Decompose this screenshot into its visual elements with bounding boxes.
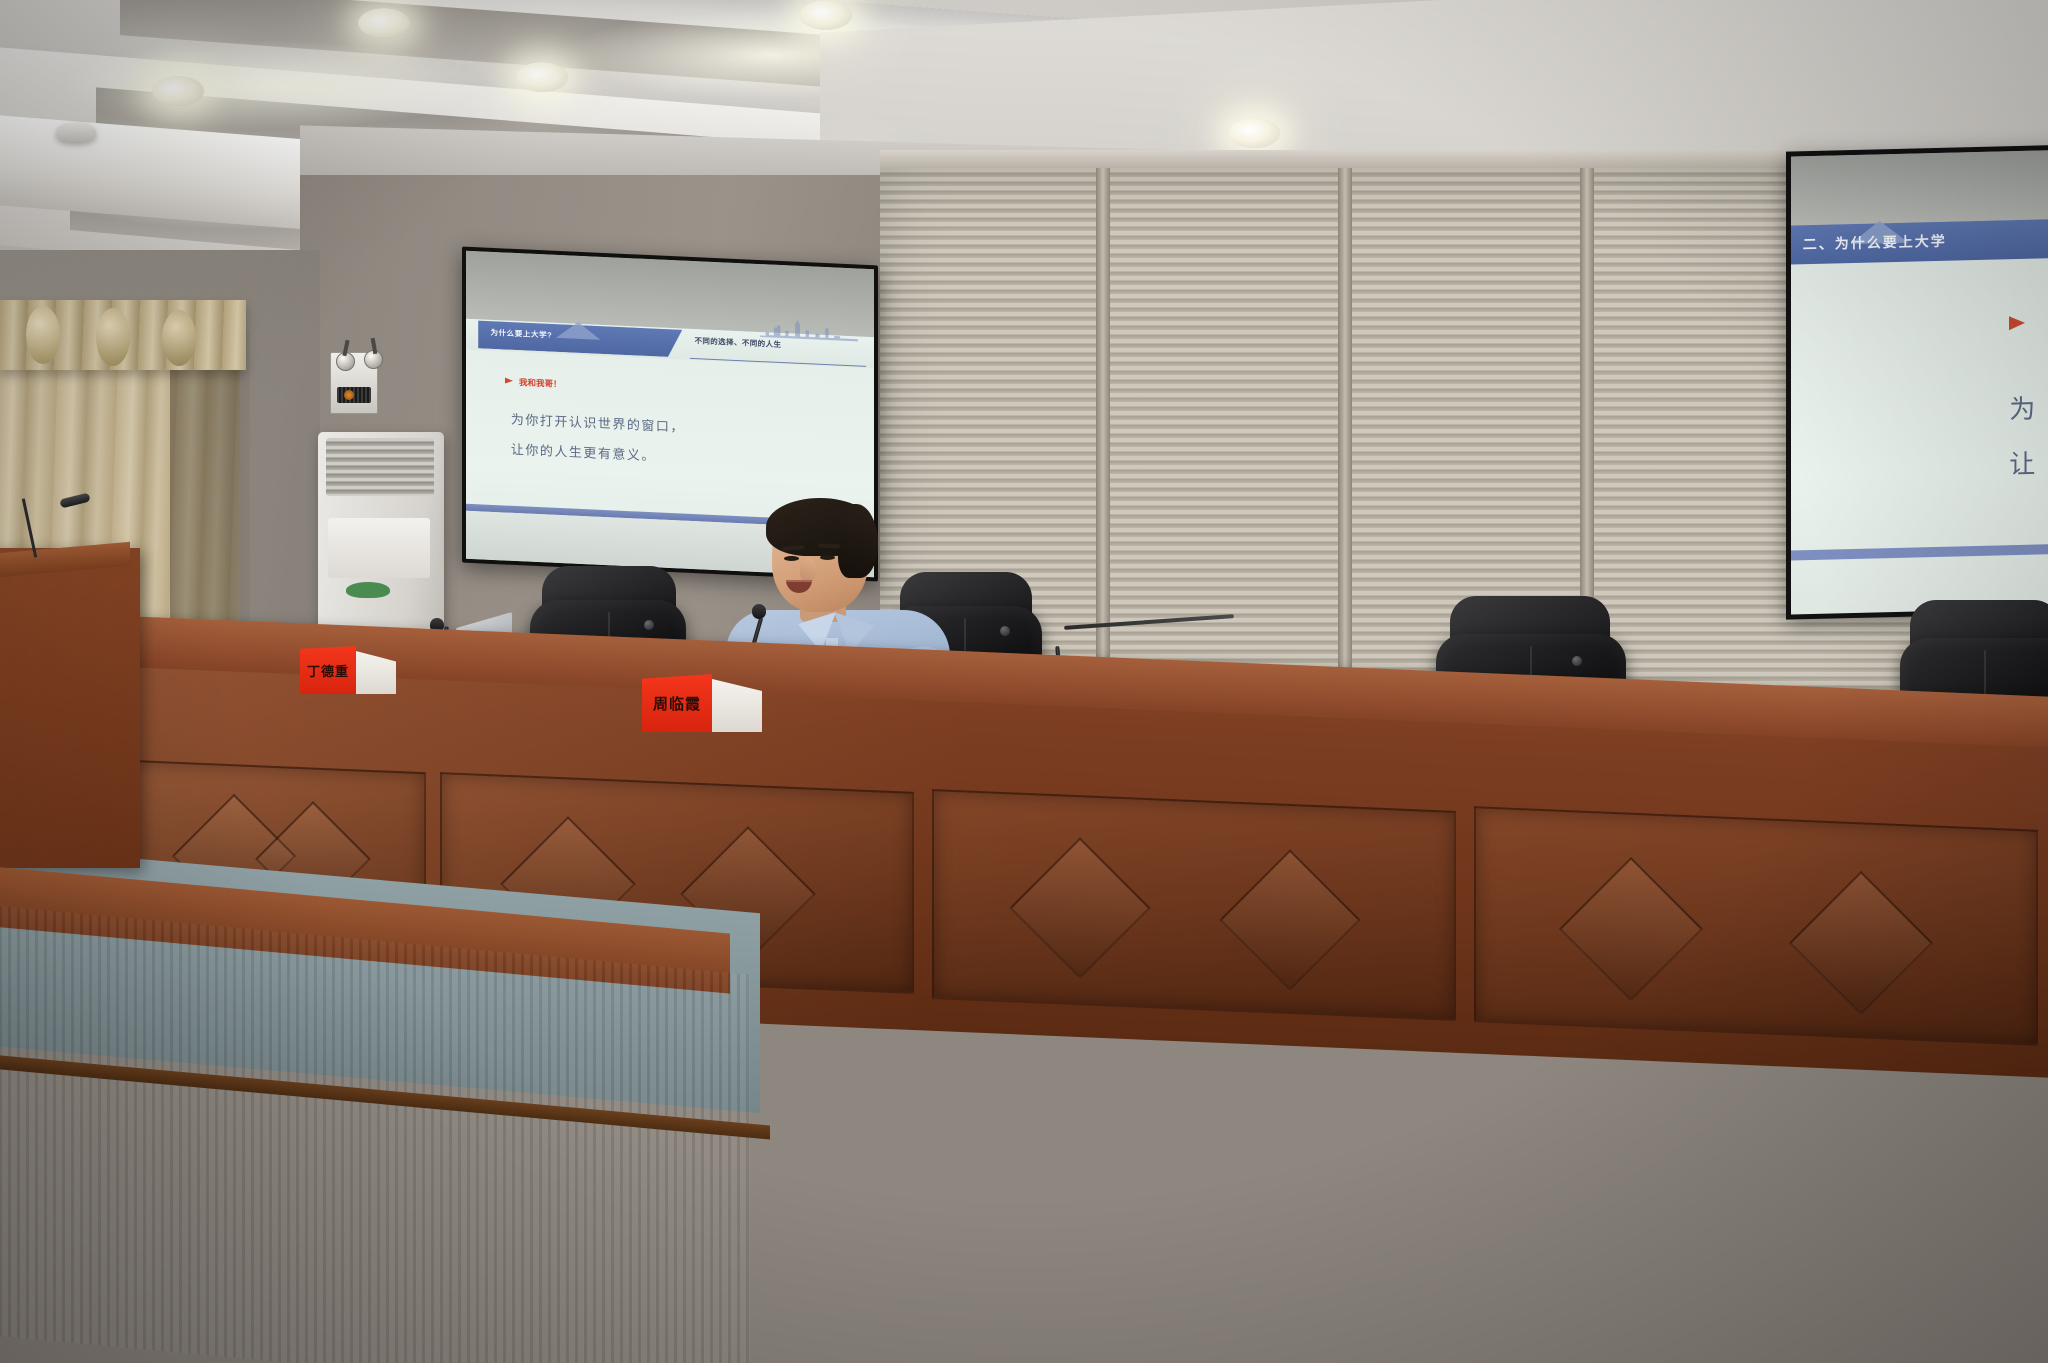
- curtain-tassel-3: [162, 310, 196, 366]
- nameplate-center-front: 周临霞: [642, 674, 712, 732]
- slide2-bullet-arrow-icon: [2009, 316, 2025, 330]
- slide2-bottom-rule: [1791, 543, 2048, 560]
- projection-screen-right: 二、为什么要上大学 为 让: [1786, 144, 2048, 619]
- curtain-tassel-2: [96, 308, 130, 366]
- speaker-hair-side: [838, 504, 878, 578]
- ac-front-panel: [328, 518, 430, 578]
- slide2-header-title: 二、为什么要上大学: [1803, 231, 1947, 255]
- chair-left-stud: [644, 620, 654, 630]
- front-bench-panel: [0, 905, 750, 1363]
- ac-brand-mark: [346, 582, 390, 598]
- downlight-2: [358, 8, 410, 38]
- lectern: [0, 548, 140, 868]
- ceiling-smoke-detector-icon: [56, 122, 96, 142]
- chair-center-stud: [1000, 626, 1010, 636]
- speaker-grille-icon: [337, 387, 371, 403]
- slide-bullet-text: 我和我哥！: [519, 376, 562, 390]
- slide2-body-line-1: 为: [2009, 389, 2035, 427]
- speaker-eye-left: [784, 556, 799, 561]
- slide-body-line-1: 为你打开认识世界的窗口，: [511, 408, 685, 435]
- nameplate-left-text: 丁德重: [307, 661, 349, 680]
- speaker-nose: [800, 558, 816, 582]
- slide2-body-line-2: 让: [2009, 444, 2035, 482]
- slide-surface-right: 二、为什么要上大学 为 让: [1791, 149, 2048, 614]
- desk-mic-center-capsule: [752, 604, 766, 619]
- downlight-1: [152, 76, 204, 106]
- indicator-led-icon: [344, 390, 354, 400]
- bullet-arrow-icon: [505, 378, 513, 384]
- slat-wall-rail: [1110, 146, 1750, 156]
- speaker-eye-right: [820, 555, 835, 560]
- cove-glow-1: [60, 40, 480, 130]
- rostrum-panel-4: [1474, 806, 2038, 1046]
- downlight-3: [516, 62, 568, 92]
- nameplate-left-front: 丁德重: [300, 646, 356, 694]
- lecture-hall-photo: 为什么要上大学? 不同的选择、不同的人生 我和我哥！ 为你打开认识世界的窗口， …: [0, 0, 2048, 1363]
- downlight-8: [1228, 118, 1280, 148]
- slide-body-line-2: 让你的人生更有意义。: [511, 439, 656, 465]
- downlight-4: [800, 0, 852, 30]
- chair-right-stud: [1572, 656, 1582, 666]
- curtain-tassel-1: [26, 306, 60, 364]
- ac-grille-icon: [326, 438, 434, 496]
- slide2-top-shadow-band: [1791, 149, 2048, 225]
- nameplate-center-text: 周临霞: [653, 693, 701, 714]
